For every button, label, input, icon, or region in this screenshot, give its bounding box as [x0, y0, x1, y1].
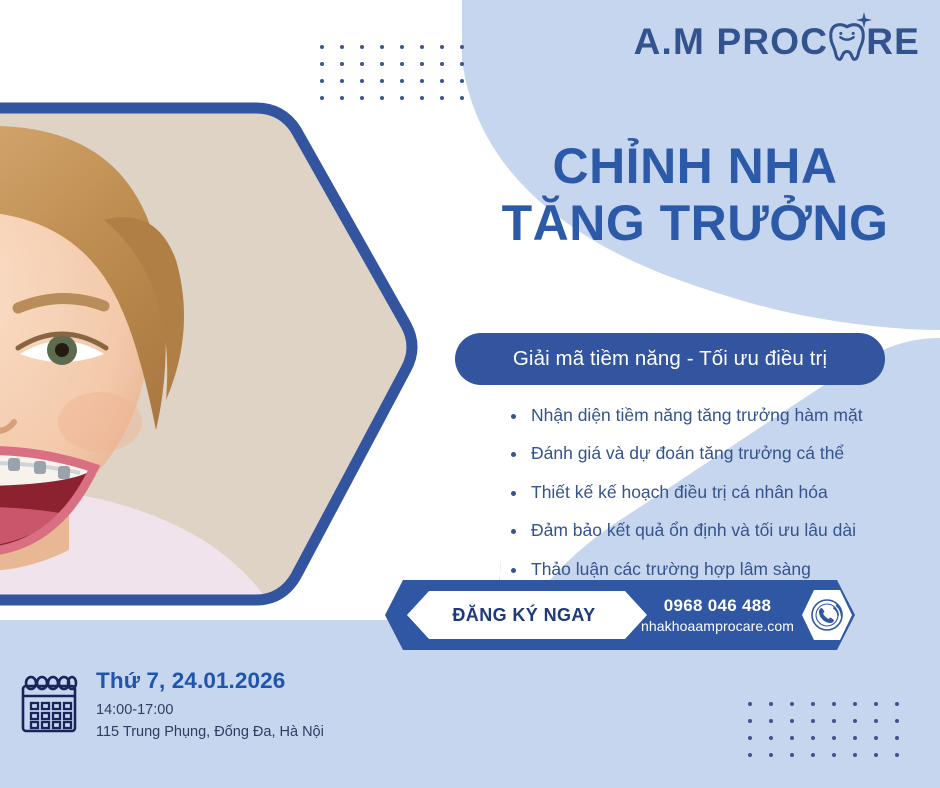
- dot: [811, 719, 815, 723]
- phone-number[interactable]: 0968 046 488: [664, 595, 772, 616]
- event-text-block: Thứ 7, 24.01.2026 14:00-17:00 115 Trung …: [96, 668, 324, 743]
- register-button[interactable]: ĐĂNG KÝ NGAY: [415, 591, 633, 639]
- dot: [380, 45, 384, 49]
- dot: [748, 719, 752, 723]
- dot: [748, 736, 752, 740]
- dot: [748, 753, 752, 757]
- dot: [420, 62, 424, 66]
- dot: [340, 79, 344, 83]
- dot-grid-bottom: [748, 702, 916, 770]
- poster-canvas: A.M PROC RE CHỈNH NHA TĂNG TRƯỞNG Giải m…: [0, 0, 940, 788]
- dot: [895, 719, 899, 723]
- dot: [460, 62, 464, 66]
- dot: [440, 45, 444, 49]
- dot: [832, 753, 836, 757]
- dot: [440, 96, 444, 100]
- tagline-banner: Giải mã tiềm năng - Tối ưu điều trị: [455, 333, 885, 385]
- dot: [420, 96, 424, 100]
- dot: [440, 79, 444, 83]
- brand-logo[interactable]: A.M PROC RE: [634, 16, 920, 66]
- dot: [853, 719, 857, 723]
- dot: [832, 719, 836, 723]
- headline-line-1: CHỈNH NHA: [470, 138, 920, 195]
- photo-content: [0, 100, 420, 610]
- event-address: 115 Trung Phụng, Đống Đa, Hà Nội: [96, 722, 324, 744]
- logo-text-before: A.M PROC: [634, 23, 829, 60]
- logo-wordmark: A.M PROC RE: [634, 21, 920, 61]
- event-time: 14:00-17:00: [96, 700, 324, 722]
- list-item: Thảo luận các trường hợp lâm sàng: [505, 559, 925, 581]
- calendar-icon: [18, 674, 80, 736]
- cta-banner: ĐĂNG KÝ NGAY 0968 046 488 nhakhoaamproca…: [385, 580, 855, 650]
- dot: [832, 736, 836, 740]
- tagline-text: Giải mã tiềm năng - Tối ưu điều trị: [513, 347, 827, 371]
- sparkle-icon: [856, 12, 872, 33]
- list-item: Thiết kế kế hoạch điều trị cá nhân hóa: [505, 482, 925, 504]
- list-item: Đánh giá và dự đoán tăng trưởng cá thể: [505, 443, 925, 465]
- dot: [895, 702, 899, 706]
- dot: [460, 79, 464, 83]
- dot: [340, 62, 344, 66]
- dot: [340, 45, 344, 49]
- dot: [874, 702, 878, 706]
- dot: [853, 702, 857, 706]
- dot: [874, 719, 878, 723]
- dot: [832, 702, 836, 706]
- dot: [769, 719, 773, 723]
- dot: [811, 736, 815, 740]
- dot: [895, 736, 899, 740]
- dot: [400, 62, 404, 66]
- dot: [420, 79, 424, 83]
- dot: [811, 753, 815, 757]
- dot: [769, 702, 773, 706]
- dot: [874, 753, 878, 757]
- cta-contact-info: 0968 046 488 nhakhoaamprocare.com: [635, 590, 800, 640]
- headline-line-2: TĂNG TRƯỞNG: [470, 195, 920, 252]
- dot: [460, 96, 464, 100]
- dot: [380, 79, 384, 83]
- photo-hexagon-svg: [0, 100, 420, 610]
- event-info: Thứ 7, 24.01.2026 14:00-17:00 115 Trung …: [18, 668, 324, 743]
- dot: [769, 736, 773, 740]
- dot: [400, 79, 404, 83]
- page-title: CHỈNH NHA TĂNG TRƯỞNG: [470, 138, 920, 252]
- phone-ring-icon[interactable]: [800, 588, 854, 642]
- dot: [360, 62, 364, 66]
- dot: [790, 753, 794, 757]
- list-item: Đảm bảo kết quả ổn định và tối ưu lâu dà…: [505, 520, 925, 542]
- register-button-label: ĐĂNG KÝ NGAY: [452, 605, 595, 626]
- dot: [420, 45, 424, 49]
- dot: [811, 702, 815, 706]
- dot: [853, 753, 857, 757]
- logo-text-after: RE: [866, 23, 920, 60]
- dot: [320, 62, 324, 66]
- dot: [360, 79, 364, 83]
- dot: [790, 736, 794, 740]
- feature-list: Nhận diện tiềm năng tăng trưởng hàm mặt …: [505, 405, 925, 597]
- dot: [748, 702, 752, 706]
- dot: [320, 45, 324, 49]
- dot: [400, 45, 404, 49]
- website-url[interactable]: nhakhoaamprocare.com: [641, 617, 794, 635]
- dot: [320, 79, 324, 83]
- dot: [790, 702, 794, 706]
- list-item: Nhận diện tiềm năng tăng trưởng hàm mặt: [505, 405, 925, 427]
- photo-frame-hexagon: [0, 100, 420, 610]
- dot: [380, 62, 384, 66]
- dot: [895, 753, 899, 757]
- dot: [360, 45, 364, 49]
- dot: [874, 736, 878, 740]
- dot: [769, 753, 773, 757]
- dot: [853, 736, 857, 740]
- dot: [460, 45, 464, 49]
- dot: [440, 62, 444, 66]
- event-date: Thứ 7, 24.01.2026: [96, 668, 324, 694]
- dot: [790, 719, 794, 723]
